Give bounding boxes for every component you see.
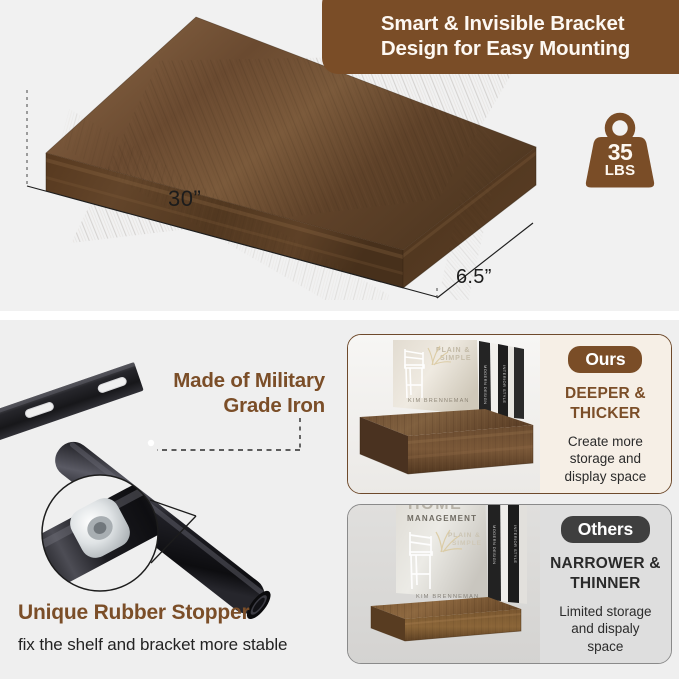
others-desc-line-2: and dispaly	[559, 620, 651, 638]
header-line-1: Smart & Invisible Bracket	[381, 11, 630, 36]
shelf-length-label: 30”	[168, 186, 201, 212]
weight-unit: LBS	[583, 162, 657, 179]
comparison-card-ours: PLAIN & SIMPLE	[347, 334, 672, 494]
military-grade-heading: Made of Military Grade Iron	[120, 368, 325, 418]
header-banner: Smart & Invisible Bracket Design for Eas…	[322, 0, 679, 74]
others-desc-line-1: Limited storage	[559, 603, 651, 621]
svg-text:PLAIN &: PLAIN &	[448, 532, 481, 539]
ours-desc-line-2: storage and	[565, 450, 647, 468]
others-photo-svg: HOME MANAGEMENT PLAIN & SIMPLE	[348, 505, 540, 663]
svg-text:HOME: HOME	[408, 505, 462, 513]
ours-photo-svg: PLAIN & SIMPLE	[348, 335, 540, 493]
svg-text:PLAIN &: PLAIN &	[436, 347, 470, 354]
ours-desc-line-1: Create more	[565, 433, 647, 451]
header-line-2: Design for Easy Mounting	[381, 36, 630, 61]
ours-info: Ours DEEPER & THICKER Create more storag…	[540, 335, 671, 493]
ours-heading-line-1: DEEPER &	[565, 384, 646, 404]
svg-text:INTERIOR STYLE: INTERIOR STYLE	[502, 365, 507, 404]
others-desc-line-3: space	[559, 638, 651, 656]
others-heading-line-2: THINNER	[550, 574, 661, 594]
military-line-2: Grade Iron	[120, 393, 325, 418]
others-photo: HOME MANAGEMENT PLAIN & SIMPLE	[348, 505, 540, 663]
stopper-feature-title: Unique Rubber Stopper	[18, 601, 249, 625]
comparison-card-others: HOME MANAGEMENT PLAIN & SIMPLE	[347, 504, 672, 664]
bottom-features-section: Made of Military Grade Iron Unique Rubbe…	[0, 320, 679, 679]
svg-text:SIMPLE: SIMPLE	[440, 355, 471, 362]
others-heading: NARROWER & THINNER	[550, 554, 661, 594]
ours-description: Create more storage and display space	[565, 433, 647, 486]
ours-photo: PLAIN & SIMPLE	[348, 335, 540, 493]
military-line-1: Made of Military	[120, 368, 325, 393]
svg-text:KIM BRENNEMAN: KIM BRENNEMAN	[408, 398, 470, 404]
spine-books: MODERN DESIGN INTERIOR STYLE	[479, 341, 524, 419]
ours-desc-line-3: display space	[565, 468, 647, 486]
rod-hole-marker	[148, 440, 154, 446]
top-hero-section: 30” 6.5” Smart & Invisible Bracket Desig…	[0, 0, 679, 311]
svg-text:INTERIOR STYLE: INTERIOR STYLE	[513, 525, 518, 564]
weight-capacity-badge: 35 LBS	[583, 112, 657, 190]
others-info: Others NARROWER & THINNER Limited storag…	[540, 505, 671, 663]
product-infographic: 30” 6.5” Smart & Invisible Bracket Desig…	[0, 0, 679, 679]
svg-text:MODERN DESIGN: MODERN DESIGN	[483, 365, 488, 404]
svg-text:MODERN DESIGN: MODERN DESIGN	[492, 525, 497, 564]
ours-badge: Ours	[568, 346, 642, 373]
header-text: Smart & Invisible Bracket Design for Eas…	[371, 11, 630, 61]
others-badge: Others	[561, 516, 650, 543]
bracket-feature-panel: Made of Military Grade Iron Unique Rubbe…	[0, 320, 341, 679]
others-description: Limited storage and dispaly space	[559, 603, 651, 656]
shelf-depth-label: 6.5”	[456, 266, 492, 289]
spine-books: MODERN DESIGN INTERIOR STYLE	[488, 505, 527, 604]
section-divider	[0, 311, 679, 320]
ours-heading: DEEPER & THICKER	[565, 384, 646, 424]
ours-heading-line-2: THICKER	[565, 404, 646, 424]
others-heading-line-1: NARROWER &	[550, 554, 661, 574]
dashed-leader-line	[157, 418, 300, 450]
svg-text:SIMPLE: SIMPLE	[452, 540, 482, 547]
stopper-feature-subtitle: fix the shelf and bracket more stable	[18, 635, 287, 655]
svg-text:MANAGEMENT: MANAGEMENT	[407, 514, 477, 523]
